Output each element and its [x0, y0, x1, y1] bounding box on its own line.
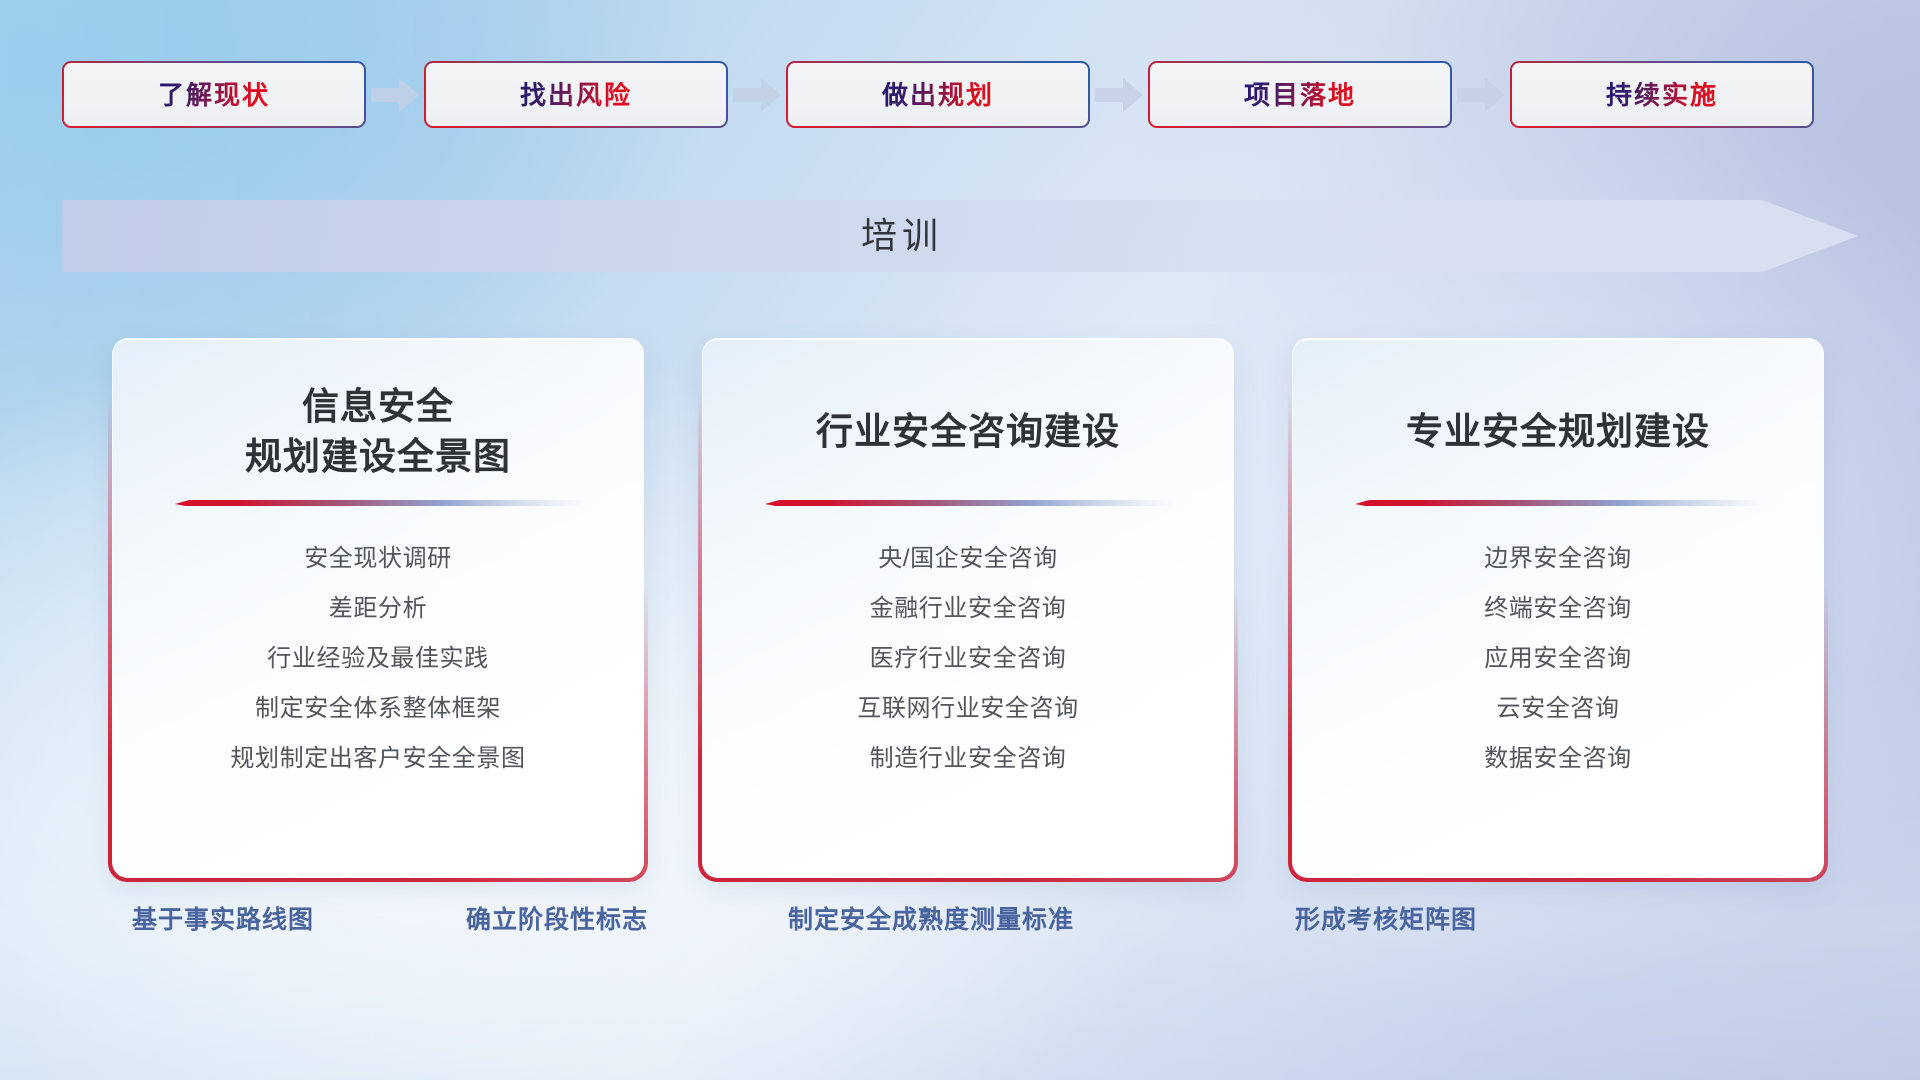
step-pill-inner: 做出规划 [788, 63, 1088, 126]
step-pill-3[interactable]: 做出规划 [786, 61, 1090, 128]
step-pill-2[interactable]: 找出风险 [424, 61, 728, 128]
card-title-line: 行业安全咨询建设 [816, 407, 1120, 457]
card-title: 行业安全咨询建设 [816, 382, 1120, 482]
list-item: 边界安全咨询 [1322, 547, 1794, 597]
list-item: 终端安全咨询 [1322, 597, 1794, 647]
caption-label: 确立阶段性标志 [466, 908, 648, 933]
step-pill-inner: 项目落地 [1150, 63, 1450, 126]
list-item: 安全现状调研 [142, 547, 614, 597]
card-title-line: 规划建设全景图 [245, 432, 511, 482]
list-item: 规划制定出客户安全全景图 [142, 747, 614, 771]
slide-canvas: 了解现状 找出风险 做出规划 [0, 0, 1920, 1080]
step-pill-inner: 持续实施 [1512, 63, 1812, 126]
card-industry-security-consulting[interactable]: 行业安全咨询建设 [702, 338, 1234, 878]
right-arrow-icon [369, 75, 421, 115]
training-banner: 培训 [62, 200, 1858, 272]
list-item: 差距分析 [142, 597, 614, 647]
card-body: 信息安全 规划建设全景图 [112, 338, 644, 878]
card-item-list: 安全现状调研 差距分析 行业经验及最佳实践 制定安全体系整体框架 规划制定出客户… [142, 547, 614, 771]
list-item: 互联网行业安全咨询 [732, 697, 1204, 747]
card-title-line: 专业安全规划建设 [1406, 407, 1710, 457]
right-arrow-icon [731, 75, 783, 115]
right-arrow-icon [1093, 75, 1145, 115]
card-divider [765, 500, 1171, 513]
caption-label: 制定安全成熟度测量标准 [788, 908, 1074, 933]
list-item: 行业经验及最佳实践 [142, 647, 614, 697]
caption-row: 基于事实路线图 确立阶段性标志 制定安全成熟度测量标准 形成考核矩阵图 [0, 908, 1920, 954]
right-arrow-icon [1455, 75, 1507, 115]
card-title: 专业安全规划建设 [1406, 382, 1710, 482]
list-item: 数据安全咨询 [1322, 747, 1794, 771]
card-title-line: 信息安全 [245, 382, 511, 432]
step-pill-1[interactable]: 了解现状 [62, 61, 366, 128]
card-divider [1355, 500, 1761, 513]
list-item: 医疗行业安全咨询 [732, 647, 1204, 697]
step-pill-inner: 了解现状 [64, 63, 364, 126]
card-body: 专业安全规划建设 [1292, 338, 1824, 878]
caption-label: 形成考核矩阵图 [1295, 908, 1477, 933]
card-information-security-panorama[interactable]: 信息安全 规划建设全景图 [112, 338, 644, 878]
list-item: 制造行业安全咨询 [732, 747, 1204, 771]
card-body: 行业安全咨询建设 [702, 338, 1234, 878]
card-item-list: 边界安全咨询 终端安全咨询 应用安全咨询 云安全咨询 数据安全咨询 [1322, 547, 1794, 771]
card-professional-security-planning[interactable]: 专业安全规划建设 [1292, 338, 1824, 878]
list-item: 央/国企安全咨询 [732, 547, 1204, 597]
step-label: 找出风险 [520, 82, 632, 108]
step-label: 项目落地 [1244, 82, 1356, 108]
step-label: 了解现状 [158, 82, 270, 108]
list-item: 金融行业安全咨询 [732, 597, 1204, 647]
card-row: 信息安全 规划建设全景图 [112, 338, 1824, 878]
step-pill-4[interactable]: 项目落地 [1148, 61, 1452, 128]
step-pill-5[interactable]: 持续实施 [1510, 61, 1814, 128]
list-item: 应用安全咨询 [1322, 647, 1794, 697]
step-pill-inner: 找出风险 [426, 63, 726, 126]
card-title: 信息安全 规划建设全景图 [245, 382, 511, 482]
caption-label: 基于事实路线图 [132, 908, 314, 933]
list-item: 云安全咨询 [1322, 697, 1794, 747]
card-divider [175, 500, 581, 513]
step-label: 做出规划 [882, 82, 994, 108]
step-label: 持续实施 [1606, 82, 1718, 108]
banner-title: 培训 [62, 200, 1742, 272]
list-item: 制定安全体系整体框架 [142, 697, 614, 747]
card-item-list: 央/国企安全咨询 金融行业安全咨询 医疗行业安全咨询 互联网行业安全咨询 制造行… [732, 547, 1204, 771]
process-step-row: 了解现状 找出风险 做出规划 [62, 61, 1858, 128]
